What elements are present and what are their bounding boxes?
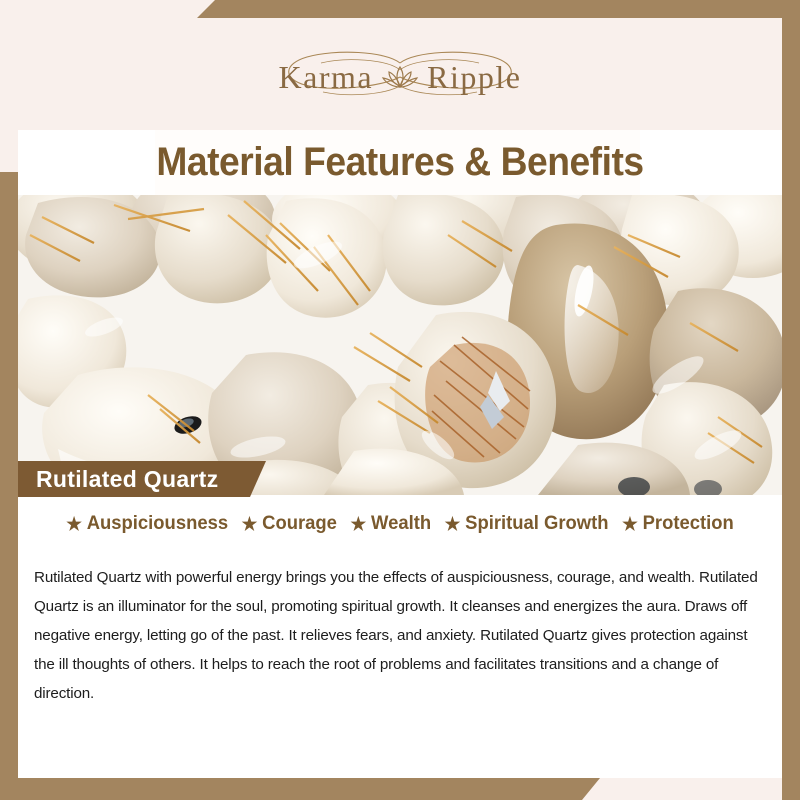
brand-wordmark: Karma bbox=[277, 59, 524, 96]
feature-label: Spiritual Growth bbox=[465, 513, 608, 535]
infographic-page: Karma bbox=[0, 0, 800, 800]
frame-top-border bbox=[0, 0, 800, 18]
feature-item-spiritual-growth: ★ Spiritual Growth bbox=[445, 513, 609, 535]
frame-right-border bbox=[782, 0, 800, 800]
star-icon: ★ bbox=[622, 515, 638, 533]
stone-name-banner: Rutilated Quartz bbox=[18, 461, 266, 497]
stone-name-label: Rutilated Quartz bbox=[36, 466, 218, 493]
feature-item-courage: ★ Courage bbox=[242, 513, 337, 535]
feature-label: Wealth bbox=[371, 513, 431, 535]
brand-name-right: Ripple bbox=[425, 59, 523, 96]
star-icon: ★ bbox=[445, 515, 461, 533]
star-icon: ★ bbox=[66, 515, 82, 533]
feature-label: Courage bbox=[262, 513, 337, 535]
feature-item-protection: ★ Protection bbox=[622, 513, 734, 535]
brand-name-left: Karma bbox=[277, 59, 376, 96]
rutilated-quartz-photo bbox=[18, 195, 782, 495]
description-block: Rutilated Quartz with powerful energy br… bbox=[34, 563, 772, 708]
page-title: Material Features & Benefits bbox=[45, 130, 756, 195]
feature-label: Protection bbox=[643, 513, 734, 535]
content-card: Karma bbox=[18, 18, 782, 778]
frame-left-top-gap bbox=[0, 0, 18, 172]
frame-bottom-border bbox=[0, 778, 800, 800]
star-icon: ★ bbox=[242, 515, 258, 533]
feature-list: ★ Auspiciousness ★ Courage ★ Wealth ★ Sp… bbox=[29, 513, 770, 535]
lotus-icon bbox=[381, 62, 419, 92]
description-text: Rutilated Quartz with powerful energy br… bbox=[34, 563, 772, 708]
feature-item-auspiciousness: ★ Auspiciousness bbox=[66, 513, 228, 535]
star-icon: ★ bbox=[351, 515, 367, 533]
feature-label: Auspiciousness bbox=[87, 513, 228, 535]
feature-item-wealth: ★ Wealth bbox=[351, 513, 432, 535]
brand-logo: Karma bbox=[18, 42, 782, 112]
brand-header: Karma bbox=[18, 18, 782, 130]
